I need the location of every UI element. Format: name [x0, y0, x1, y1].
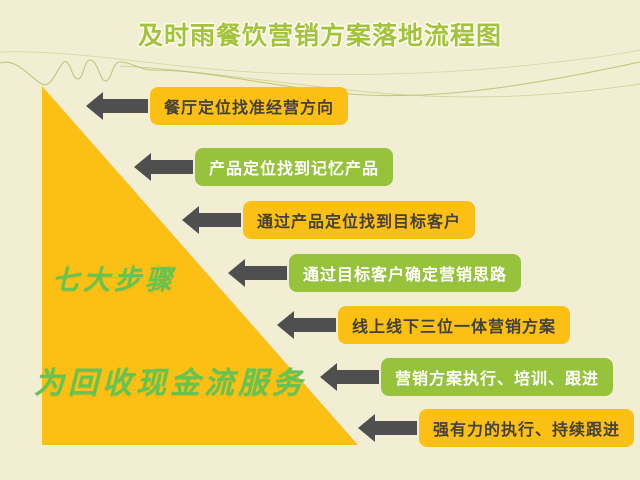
arrow-head [277, 311, 294, 339]
flow-step-chip-1[interactable]: 餐厅定位找准经营方向 [150, 87, 348, 125]
flow-step-chip-6[interactable]: 营销方案执行、培训、跟进 [381, 358, 613, 396]
arrow-head [134, 153, 151, 181]
arrow-shaft [294, 318, 336, 332]
flow-step-row: 营销方案执行、培训、跟进 [320, 358, 613, 396]
flow-step-row: 餐厅定位找准经营方向 [86, 87, 348, 125]
flow-step-row: 通过目标客户确定营销思路 [228, 254, 521, 292]
arrow-left-icon [320, 370, 379, 384]
flow-step-row: 通过产品定位找到目标客户 [182, 201, 475, 239]
flow-step-row: 线上线下三位一体营销方案 [277, 306, 570, 344]
flow-step-chip-3[interactable]: 通过产品定位找到目标客户 [243, 201, 475, 239]
flow-step-row: 强有力的执行、持续跟进 [358, 409, 634, 447]
arrow-left-icon [358, 421, 417, 435]
arrow-shaft [151, 160, 193, 174]
arrow-shaft [375, 421, 417, 435]
flow-step-chip-4[interactable]: 通过目标客户确定营销思路 [289, 254, 521, 292]
arrow-head [86, 92, 103, 120]
decorative-curves [0, 0, 640, 480]
arrow-head [358, 414, 375, 442]
arrow-left-icon [134, 160, 193, 174]
arrow-shaft [337, 370, 379, 384]
arrow-shaft [103, 99, 148, 113]
arrow-left-icon [228, 266, 287, 280]
flow-step-chip-5[interactable]: 线上线下三位一体营销方案 [338, 306, 570, 344]
arrow-shaft [199, 213, 241, 227]
flow-step-chip-2[interactable]: 产品定位找到记忆产品 [195, 148, 393, 186]
arrow-head [228, 259, 245, 287]
triangle-caption-cashflow: 为回收现金流服务 [34, 358, 306, 402]
arrow-left-icon [86, 99, 148, 113]
arrow-head [320, 363, 337, 391]
infographic-canvas: 及时雨餐饮营销方案落地流程图 七大步骤 为回收现金流服务 餐厅定位找准经营方向产… [0, 0, 640, 480]
triangle-caption-seven-steps: 七大步骤 [52, 258, 176, 297]
arrow-left-icon [182, 213, 241, 227]
page-title: 及时雨餐饮营销方案落地流程图 [0, 16, 640, 52]
flow-step-chip-7[interactable]: 强有力的执行、持续跟进 [419, 409, 634, 447]
arrow-left-icon [277, 318, 336, 332]
funnel-triangle [0, 0, 640, 480]
flow-step-row: 产品定位找到记忆产品 [134, 148, 393, 186]
arrow-head [182, 206, 199, 234]
arrow-shaft [245, 266, 287, 280]
